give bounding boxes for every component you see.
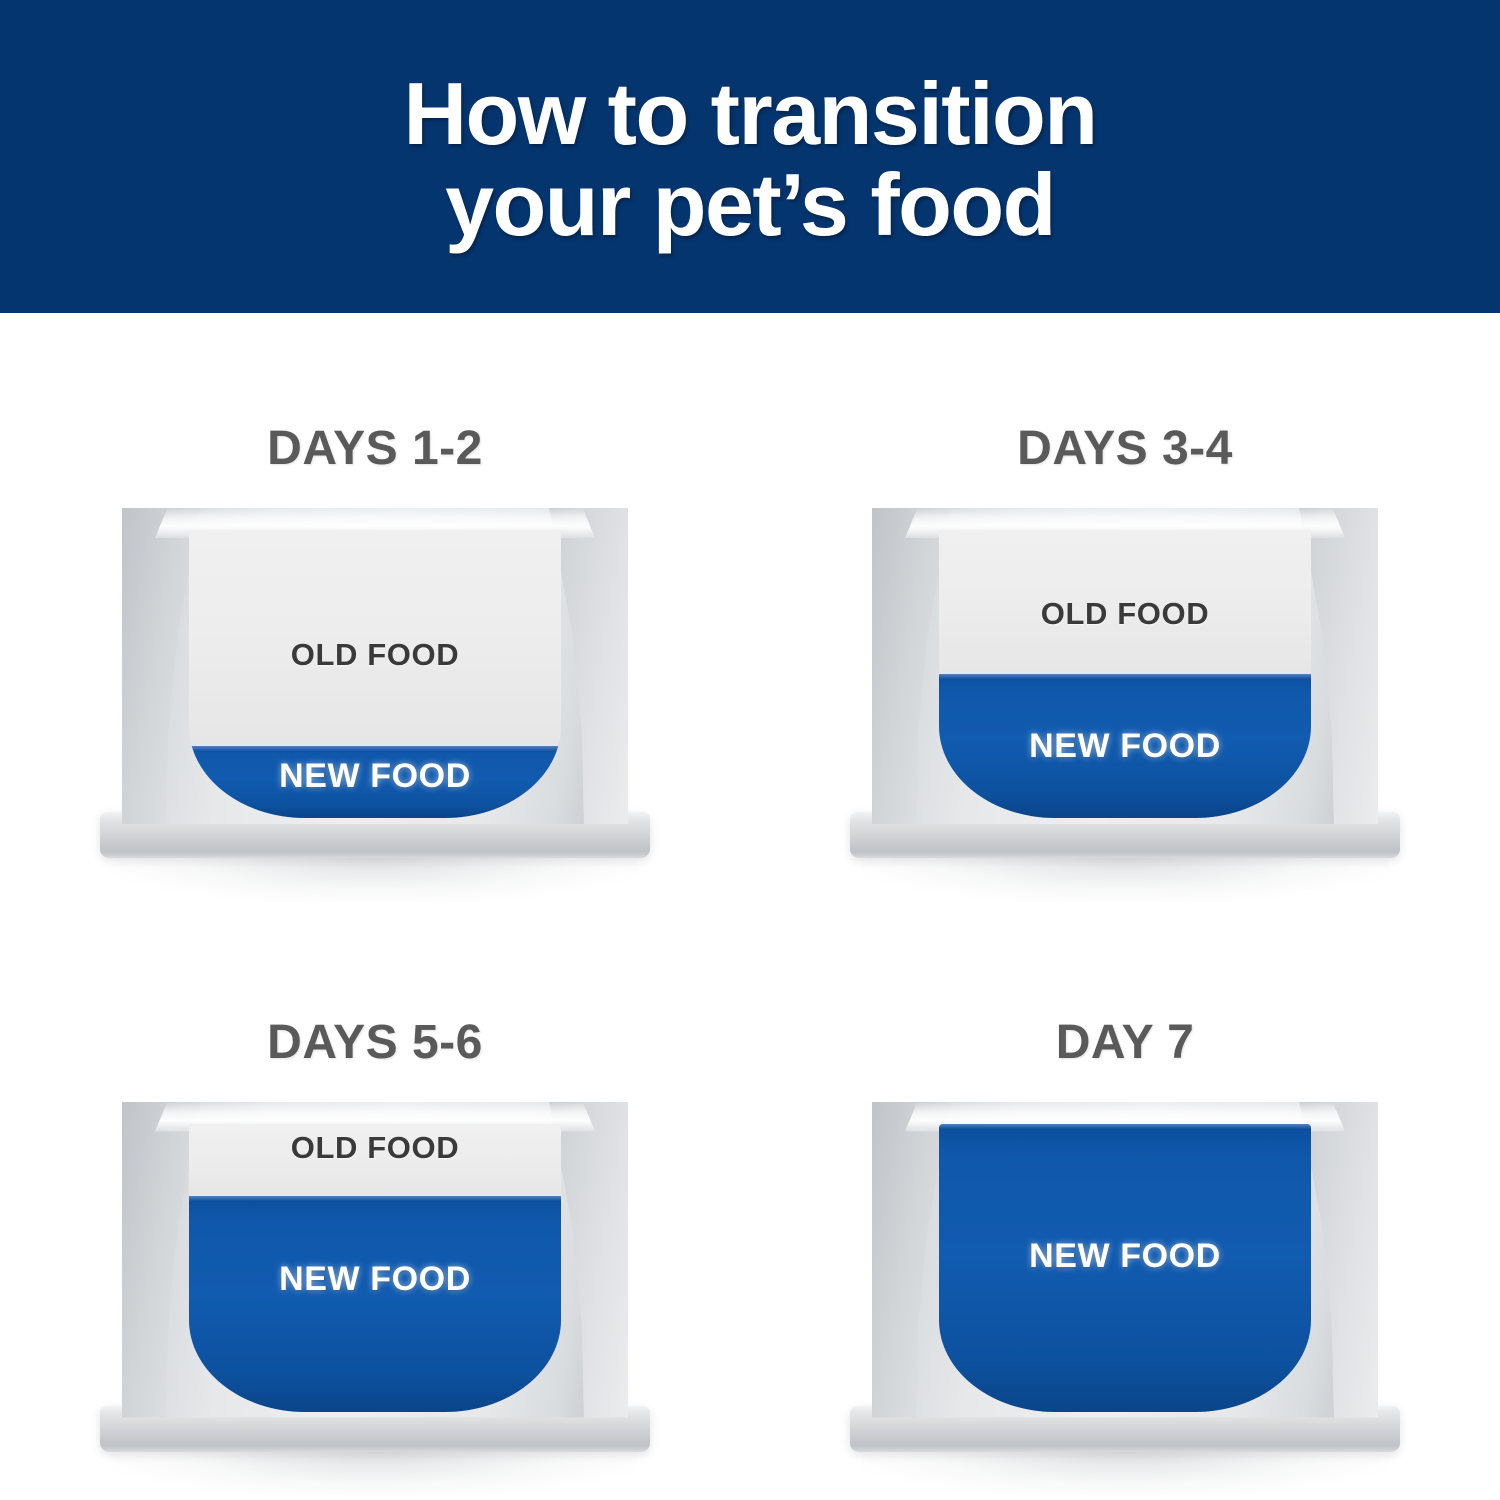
new-food-label: NEW FOOD [939, 1237, 1311, 1276]
day-label: DAYS 3-4 [750, 421, 1500, 476]
food-bowl: OLD FOOD NEW FOOD [850, 1102, 1400, 1452]
transition-panel-day-7: DAY 7 OLD FOOD NEW FOOD [750, 907, 1500, 1500]
food-bowl: OLD FOOD NEW FOOD [100, 1102, 650, 1452]
transition-panel-grid: DAYS 1-2 OLD FOOD NEW FOOD DAYS 3 [0, 313, 1500, 1500]
day-label: DAY 7 [750, 1015, 1500, 1070]
new-food-label: NEW FOOD [189, 1260, 561, 1299]
old-food-label: OLD FOOD [189, 637, 561, 673]
day-label: DAYS 5-6 [0, 1015, 750, 1070]
old-food-label: OLD FOOD [939, 596, 1311, 632]
new-food-fill: NEW FOOD [189, 1196, 561, 1412]
page-title-line-1: How to transition [403, 69, 1096, 160]
day-label: DAYS 1-2 [0, 421, 750, 476]
page-title-line-2: your pet’s food [403, 160, 1096, 251]
old-food-fill: OLD FOOD [189, 1124, 561, 1196]
transition-panel-days-1-2: DAYS 1-2 OLD FOOD NEW FOOD [0, 313, 750, 907]
new-food-label: NEW FOOD [189, 757, 561, 796]
infographic-page: How to transition your pet’s food DAYS 1… [0, 0, 1500, 1500]
new-food-fill: NEW FOOD [189, 746, 561, 818]
new-food-fill: NEW FOOD [939, 674, 1311, 818]
bowl-contents: OLD FOOD NEW FOOD [189, 530, 561, 818]
old-food-fill: OLD FOOD [939, 530, 1311, 674]
page-title: How to transition your pet’s food [403, 63, 1096, 250]
old-food-label: OLD FOOD [189, 1130, 561, 1166]
food-bowl: OLD FOOD NEW FOOD [850, 508, 1400, 858]
transition-panel-days-3-4: DAYS 3-4 OLD FOOD NEW FOOD [750, 313, 1500, 907]
header-banner: How to transition your pet’s food [0, 0, 1500, 313]
transition-panel-days-5-6: DAYS 5-6 OLD FOOD NEW FOOD [0, 907, 750, 1500]
new-food-label: NEW FOOD [939, 727, 1311, 766]
food-bowl: OLD FOOD NEW FOOD [100, 508, 650, 858]
old-food-fill: OLD FOOD [189, 530, 561, 746]
bowl-contents: OLD FOOD NEW FOOD [939, 530, 1311, 818]
bowl-contents: OLD FOOD NEW FOOD [939, 1124, 1311, 1412]
new-food-fill: NEW FOOD [939, 1124, 1311, 1412]
bowl-contents: OLD FOOD NEW FOOD [189, 1124, 561, 1412]
